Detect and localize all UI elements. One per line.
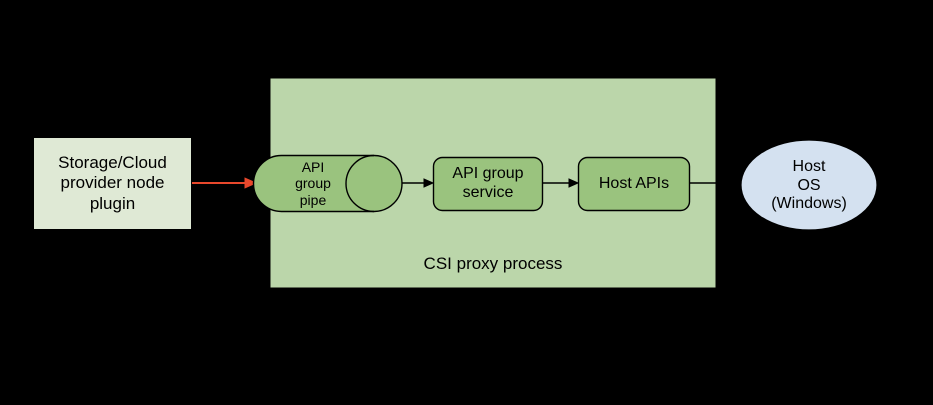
- api-group-pipe-shape[interactable]: [254, 156, 403, 212]
- api-group-service-box[interactable]: [434, 158, 543, 211]
- host-apis-box[interactable]: [579, 158, 690, 211]
- diagram-canvas: Storage/Cloud provider node plugin API g…: [0, 0, 933, 405]
- arrow-plugin-to-pipe: [192, 178, 256, 188]
- diagram-shapes: [0, 0, 933, 405]
- host-os-ellipse[interactable]: [741, 140, 877, 230]
- storage-cloud-provider-node-plugin-box[interactable]: [34, 138, 192, 230]
